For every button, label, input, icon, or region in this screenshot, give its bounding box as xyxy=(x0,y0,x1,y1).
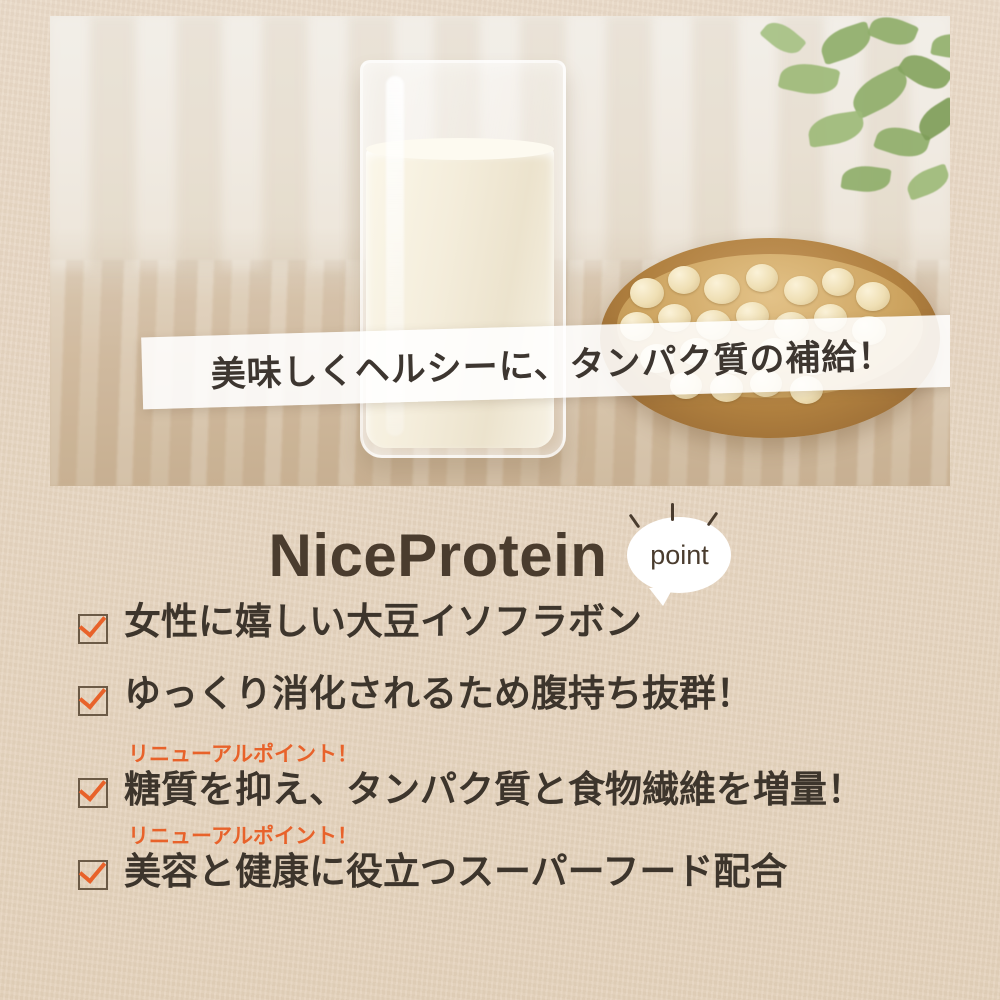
spark-icon xyxy=(671,503,674,521)
check-icon xyxy=(78,614,108,644)
point-badge-label: point xyxy=(650,540,709,571)
greenery-plant xyxy=(700,16,950,260)
brand-row: NiceProtein point xyxy=(0,505,1000,605)
check-icon xyxy=(78,778,108,808)
list-item-note: リニューアルポイント！ xyxy=(128,744,864,766)
brand-name: NiceProtein xyxy=(269,521,608,590)
list-item-label: ゆっくり消化されるため腹持ち抜群！ xyxy=(124,672,753,716)
check-icon xyxy=(78,860,108,890)
list-item-label: 女性に嬉しい大豆イソフラボン xyxy=(124,600,642,644)
spark-icon xyxy=(707,512,719,527)
spark-icon xyxy=(629,514,641,529)
promo-page: 美味しくヘルシーに、タンパク質の補給！ NiceProtein point 女性… xyxy=(0,0,1000,1000)
hero-image: 美味しくヘルシーに、タンパク質の補給！ xyxy=(50,16,950,486)
list-item-texts: リニューアルポイント！ 美容と健康に役立つスーパーフード配合 xyxy=(124,826,787,894)
list-item-note: リニューアルポイント！ xyxy=(128,826,787,848)
list-item-texts: 女性に嬉しい大豆イソフラボン xyxy=(124,600,642,644)
list-item-label: 美容と健康に役立つスーパーフード配合 xyxy=(124,850,787,894)
list-item-texts: ゆっくり消化されるため腹持ち抜群！ xyxy=(124,672,753,716)
list-item: 女性に嬉しい大豆イソフラボン xyxy=(78,600,1000,658)
list-item-label: 糖質を抑え、タンパク質と食物繊維を増量！ xyxy=(124,768,864,812)
hero-banner-text: 美味しくヘルシーに、タンパク質の補給！ xyxy=(210,327,894,397)
point-badge: point xyxy=(627,517,731,593)
list-item: リニューアルポイント！ 糖質を抑え、タンパク質と食物繊維を増量！ xyxy=(78,744,1000,812)
feature-list: 女性に嬉しい大豆イソフラボン ゆっくり消化されるため腹持ち抜群！ リニューアルポ… xyxy=(0,600,1000,907)
list-item-texts: リニューアルポイント！ 糖質を抑え、タンパク質と食物繊維を増量！ xyxy=(124,744,864,812)
check-icon xyxy=(78,686,108,716)
list-item: ゆっくり消化されるため腹持ち抜群！ xyxy=(78,672,1000,730)
list-item: リニューアルポイント！ 美容と健康に役立つスーパーフード配合 xyxy=(78,826,1000,894)
